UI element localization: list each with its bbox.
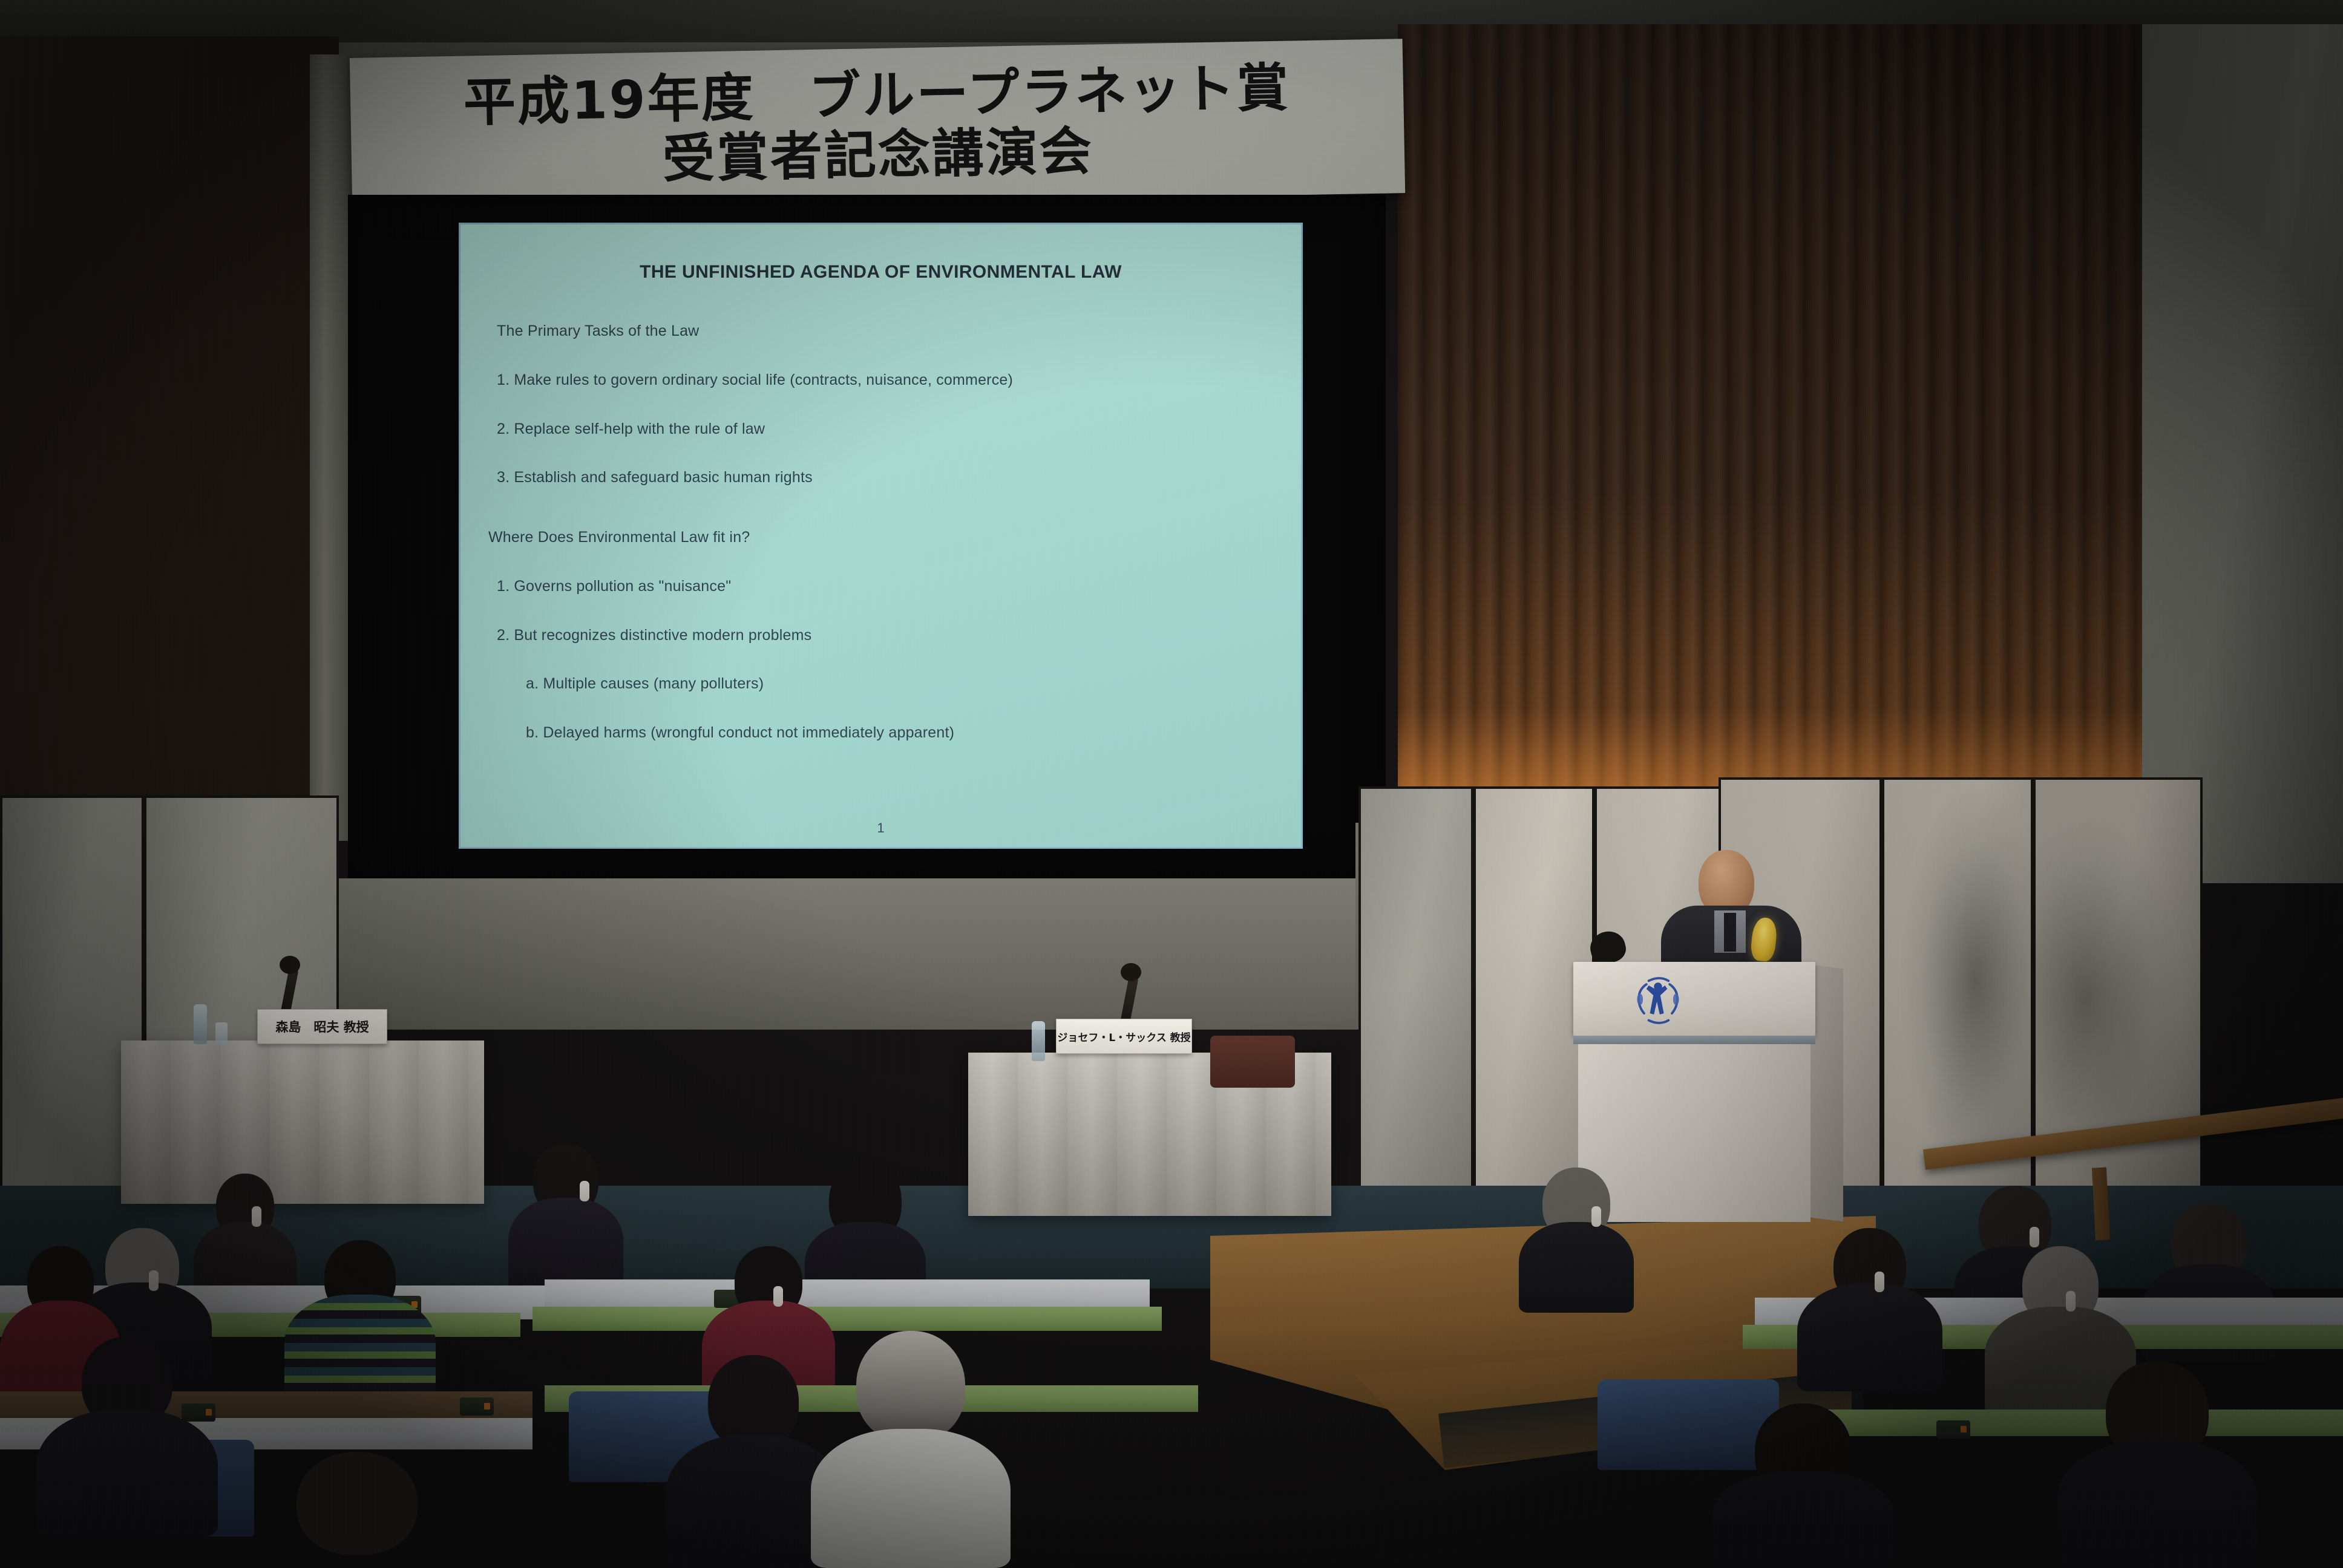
audience-person — [36, 1337, 218, 1537]
panelist-chair — [1210, 1036, 1295, 1088]
audience-person — [284, 1240, 436, 1403]
water-bottle — [194, 1004, 207, 1044]
slide-section1-item-1: 1. Make rules to govern ordinary social … — [488, 371, 1273, 389]
name-placard-middle-text: ジョセフ・L・サックス 教授 — [1057, 1029, 1190, 1044]
name-placard-left: 森島 昭夫 教授 — [257, 1009, 387, 1044]
interpretation-earpiece — [2066, 1291, 2076, 1312]
drinking-glass — [215, 1022, 228, 1045]
slide-section2-item-1: 1. Governs pollution as "nuisance" — [488, 578, 1273, 595]
speaker-person — [1661, 850, 1806, 971]
right-grey-wall — [2142, 24, 2343, 883]
stage-back-wall — [339, 878, 1404, 1030]
projected-slide: THE UNFINISHED AGENDA OF ENVIRONMENTAL L… — [459, 223, 1303, 849]
slide-section1-item-3: 3. Establish and safeguard basic human r… — [488, 469, 1273, 486]
left-pillar — [310, 54, 352, 841]
audience-person — [1797, 1228, 1942, 1391]
name-placard-left-text: 森島 昭夫 教授 — [275, 1018, 369, 1036]
table-microphone-head-left — [280, 956, 300, 974]
slide-section2-heading: Where Does Environmental Law fit in? — [488, 529, 1273, 546]
name-placard-middle: ジョセフ・L・サックス 教授 — [1056, 1019, 1192, 1054]
interpretation-earpiece — [149, 1270, 159, 1291]
slide-section1-item-2: 2. Replace self-help with the rule of la… — [488, 420, 1273, 438]
podium-accent-stripe — [1573, 1036, 1815, 1044]
left-dark-wall — [0, 36, 339, 835]
audience-torso — [1519, 1222, 1634, 1313]
audience-person — [1519, 1168, 1634, 1313]
audience-torso — [36, 1410, 218, 1537]
wood-wall-panel — [1398, 24, 2148, 835]
audience-head-grey-hair — [856, 1331, 965, 1442]
interpretation-receiver[interactable] — [1936, 1420, 1970, 1439]
audience-person-front — [811, 1331, 1011, 1568]
interpretation-earpiece — [773, 1286, 783, 1307]
audience-desk-top — [532, 1307, 1162, 1331]
lecture-hall-scene: 平成19年度 ブループラネット賞 受賞者記念講演会 THE UNFINISHED… — [0, 0, 2343, 1568]
podium-top — [1573, 962, 1815, 1036]
interpretation-earpiece — [1875, 1272, 1884, 1292]
slide-page-number: 1 — [460, 820, 1301, 836]
table-microphone-head-middle — [1121, 963, 1141, 981]
desk-surface — [532, 1307, 1162, 1331]
podium-side — [1810, 965, 1843, 1222]
slide-section2-subitem-a: a. Multiple causes (many polluters) — [488, 675, 1273, 693]
folding-screen-panel-ink-painting — [1882, 777, 2033, 1201]
speaker-tie — [1724, 913, 1736, 952]
slide-section1-heading: The Primary Tasks of the Law — [488, 322, 1273, 340]
interpretation-receiver[interactable] — [460, 1397, 494, 1416]
audience-person — [1712, 1403, 1894, 1568]
folding-screen-panel — [1358, 786, 1473, 1198]
blue-planet-prize-logo-icon — [1629, 972, 1687, 1030]
table-skirt — [121, 1040, 484, 1204]
audience-person — [242, 1452, 472, 1568]
audience-person — [2057, 1361, 2257, 1568]
audience-head — [297, 1452, 418, 1555]
audience-torso — [1712, 1471, 1894, 1568]
interpretation-earpiece — [580, 1181, 589, 1201]
audience-torso-white-shirt — [811, 1429, 1011, 1568]
water-bottle — [1032, 1021, 1045, 1061]
banner-line-1: 平成19年度 ブループラネット賞 — [463, 60, 1291, 131]
audience-torso — [2057, 1441, 2257, 1568]
interpretation-earpiece — [1591, 1206, 1601, 1227]
banner-line-2: 受賞者記念講演会 — [662, 123, 1094, 188]
event-banner: 平成19年度 ブループラネット賞 受賞者記念講演会 — [350, 39, 1405, 212]
interpretation-earpiece — [252, 1206, 261, 1227]
interpretation-earpiece — [2030, 1227, 2039, 1247]
slide-section2-subitem-b: b. Delayed harms (wrongful conduct not i… — [488, 724, 1273, 742]
audience-torso-striped — [284, 1295, 436, 1403]
slide-section2-item-2: 2. But recognizes distinctive modern pro… — [488, 627, 1273, 644]
audience-torso — [1797, 1284, 1942, 1391]
audience-person — [508, 1143, 623, 1295]
slide-title: THE UNFINISHED AGENDA OF ENVIRONMENTAL L… — [488, 262, 1273, 283]
panelist-table-left — [121, 1040, 484, 1204]
